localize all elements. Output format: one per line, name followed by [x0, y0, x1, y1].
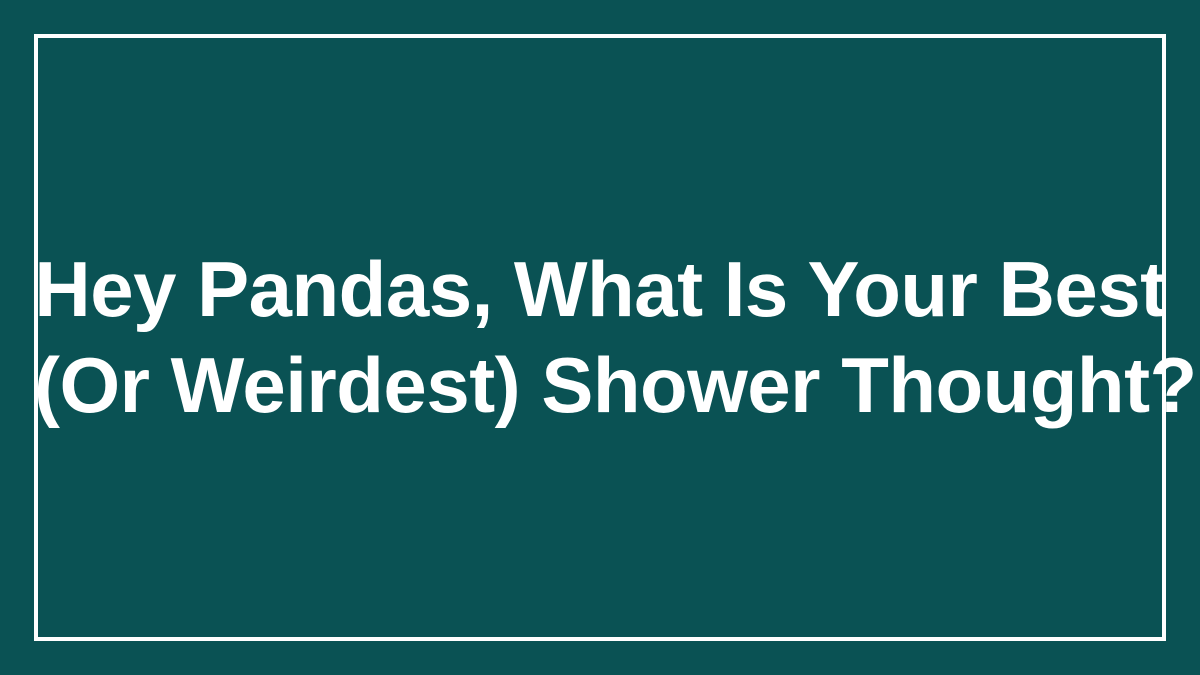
page-title-line-2: (Or Weirdest) Shower Thought?	[34, 338, 1166, 433]
title-card: Hey Pandas, What Is Your Best (Or Weirde…	[0, 0, 1200, 675]
page-title: Hey Pandas, What Is Your Best (Or Weirde…	[34, 34, 1166, 641]
page-title-line-1: Hey Pandas, What Is Your Best	[34, 242, 1166, 337]
